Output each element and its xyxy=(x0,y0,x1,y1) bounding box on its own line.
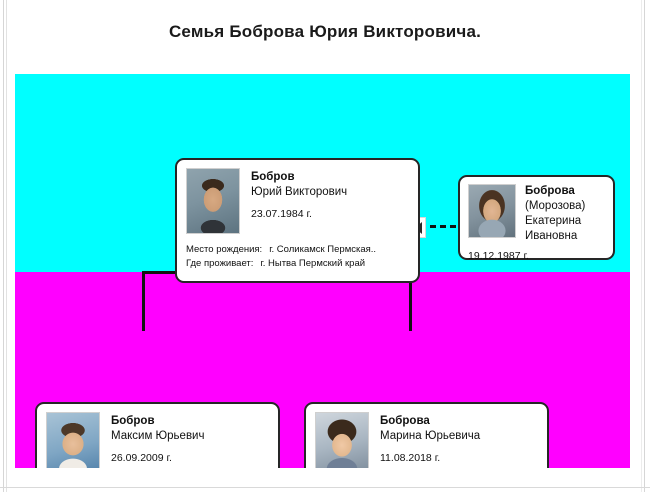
person-card-mother[interactable]: Боброва (Морозова) Екатерина Ивановна 19… xyxy=(458,175,615,260)
mother-surname: Боброва xyxy=(525,184,585,199)
page-title: Семья Боброва Юрия Викторовича. xyxy=(0,22,650,42)
diagram-canvas: Бобров Юрий Викторович 23.07.1984 г. Мес… xyxy=(15,74,630,468)
person-card-daughter[interactable]: Боброва Марина Юрьевича 11.08.2018 г. Ме… xyxy=(304,402,549,468)
mother-first-name: Екатерина xyxy=(525,214,585,229)
father-surname: Бобров xyxy=(251,170,347,185)
father-header: Бобров Юрий Викторович 23.07.1984 г. xyxy=(186,168,409,234)
mother-header: Боброва (Морозова) Екатерина Ивановна xyxy=(468,184,605,244)
father-birth-place-row: Место рождения: г. Соликамск Пермская.. xyxy=(186,243,409,257)
son-portrait-photo xyxy=(46,412,100,468)
mother-patronymic: Ивановна xyxy=(525,229,585,244)
page-border-left xyxy=(3,0,4,492)
person-card-son[interactable]: Бобров Максим Юрьевич 26.09.2009 г. Мест… xyxy=(35,402,280,468)
son-header: Бобров Максим Юрьевич 26.09.2009 г. xyxy=(46,412,269,468)
daughter-name-block: Боброва Марина Юрьевича 11.08.2018 г. xyxy=(380,412,480,466)
page-border-left-inner xyxy=(6,0,7,492)
page-border-right-inner xyxy=(641,0,642,492)
son-surname: Бобров xyxy=(111,414,204,429)
mother-maiden-name: (Морозова) xyxy=(525,199,585,214)
page-border-bottom xyxy=(0,487,650,488)
father-residence-row: Где проживает: г. Нытва Пермский край xyxy=(186,257,409,271)
son-birth-date: 26.09.2009 г. xyxy=(111,451,204,466)
father-portrait-photo xyxy=(186,168,240,234)
father-birth-place-value: г. Соликамск Пермская.. xyxy=(269,243,376,257)
family-tree-page: Семья Боброва Юрия Викторовича. Бобров Ю… xyxy=(0,0,650,492)
daughter-surname: Боброва xyxy=(380,414,480,429)
birth-place-label: Место рождения: xyxy=(186,243,262,257)
son-given-name: Максим Юрьевич xyxy=(111,429,204,444)
son-name-block: Бобров Максим Юрьевич 26.09.2009 г. xyxy=(111,412,204,466)
daughter-birth-date: 11.08.2018 г. xyxy=(380,451,480,466)
person-card-father[interactable]: Бобров Юрий Викторович 23.07.1984 г. Мес… xyxy=(175,158,420,283)
mother-portrait-photo xyxy=(468,184,516,238)
connector-drop-son xyxy=(142,271,145,331)
mother-name-block: Боброва (Морозова) Екатерина Ивановна xyxy=(525,184,585,244)
page-border-right xyxy=(644,0,645,492)
father-facts: Место рождения: г. Соликамск Пермская.. … xyxy=(186,243,409,271)
daughter-header: Боброва Марина Юрьевича 11.08.2018 г. xyxy=(315,412,538,468)
father-residence-value: г. Нытва Пермский край xyxy=(260,257,365,271)
mother-birth-date: 19.12.1987 г. xyxy=(468,250,605,262)
daughter-given-name: Марина Юрьевича xyxy=(380,429,480,444)
father-birth-date: 23.07.1984 г. xyxy=(251,207,347,222)
father-name-block: Бобров Юрий Викторович 23.07.1984 г. xyxy=(251,168,347,222)
daughter-portrait-photo xyxy=(315,412,369,468)
father-given-name: Юрий Викторович xyxy=(251,185,347,200)
residence-label: Где проживает: xyxy=(186,257,253,271)
